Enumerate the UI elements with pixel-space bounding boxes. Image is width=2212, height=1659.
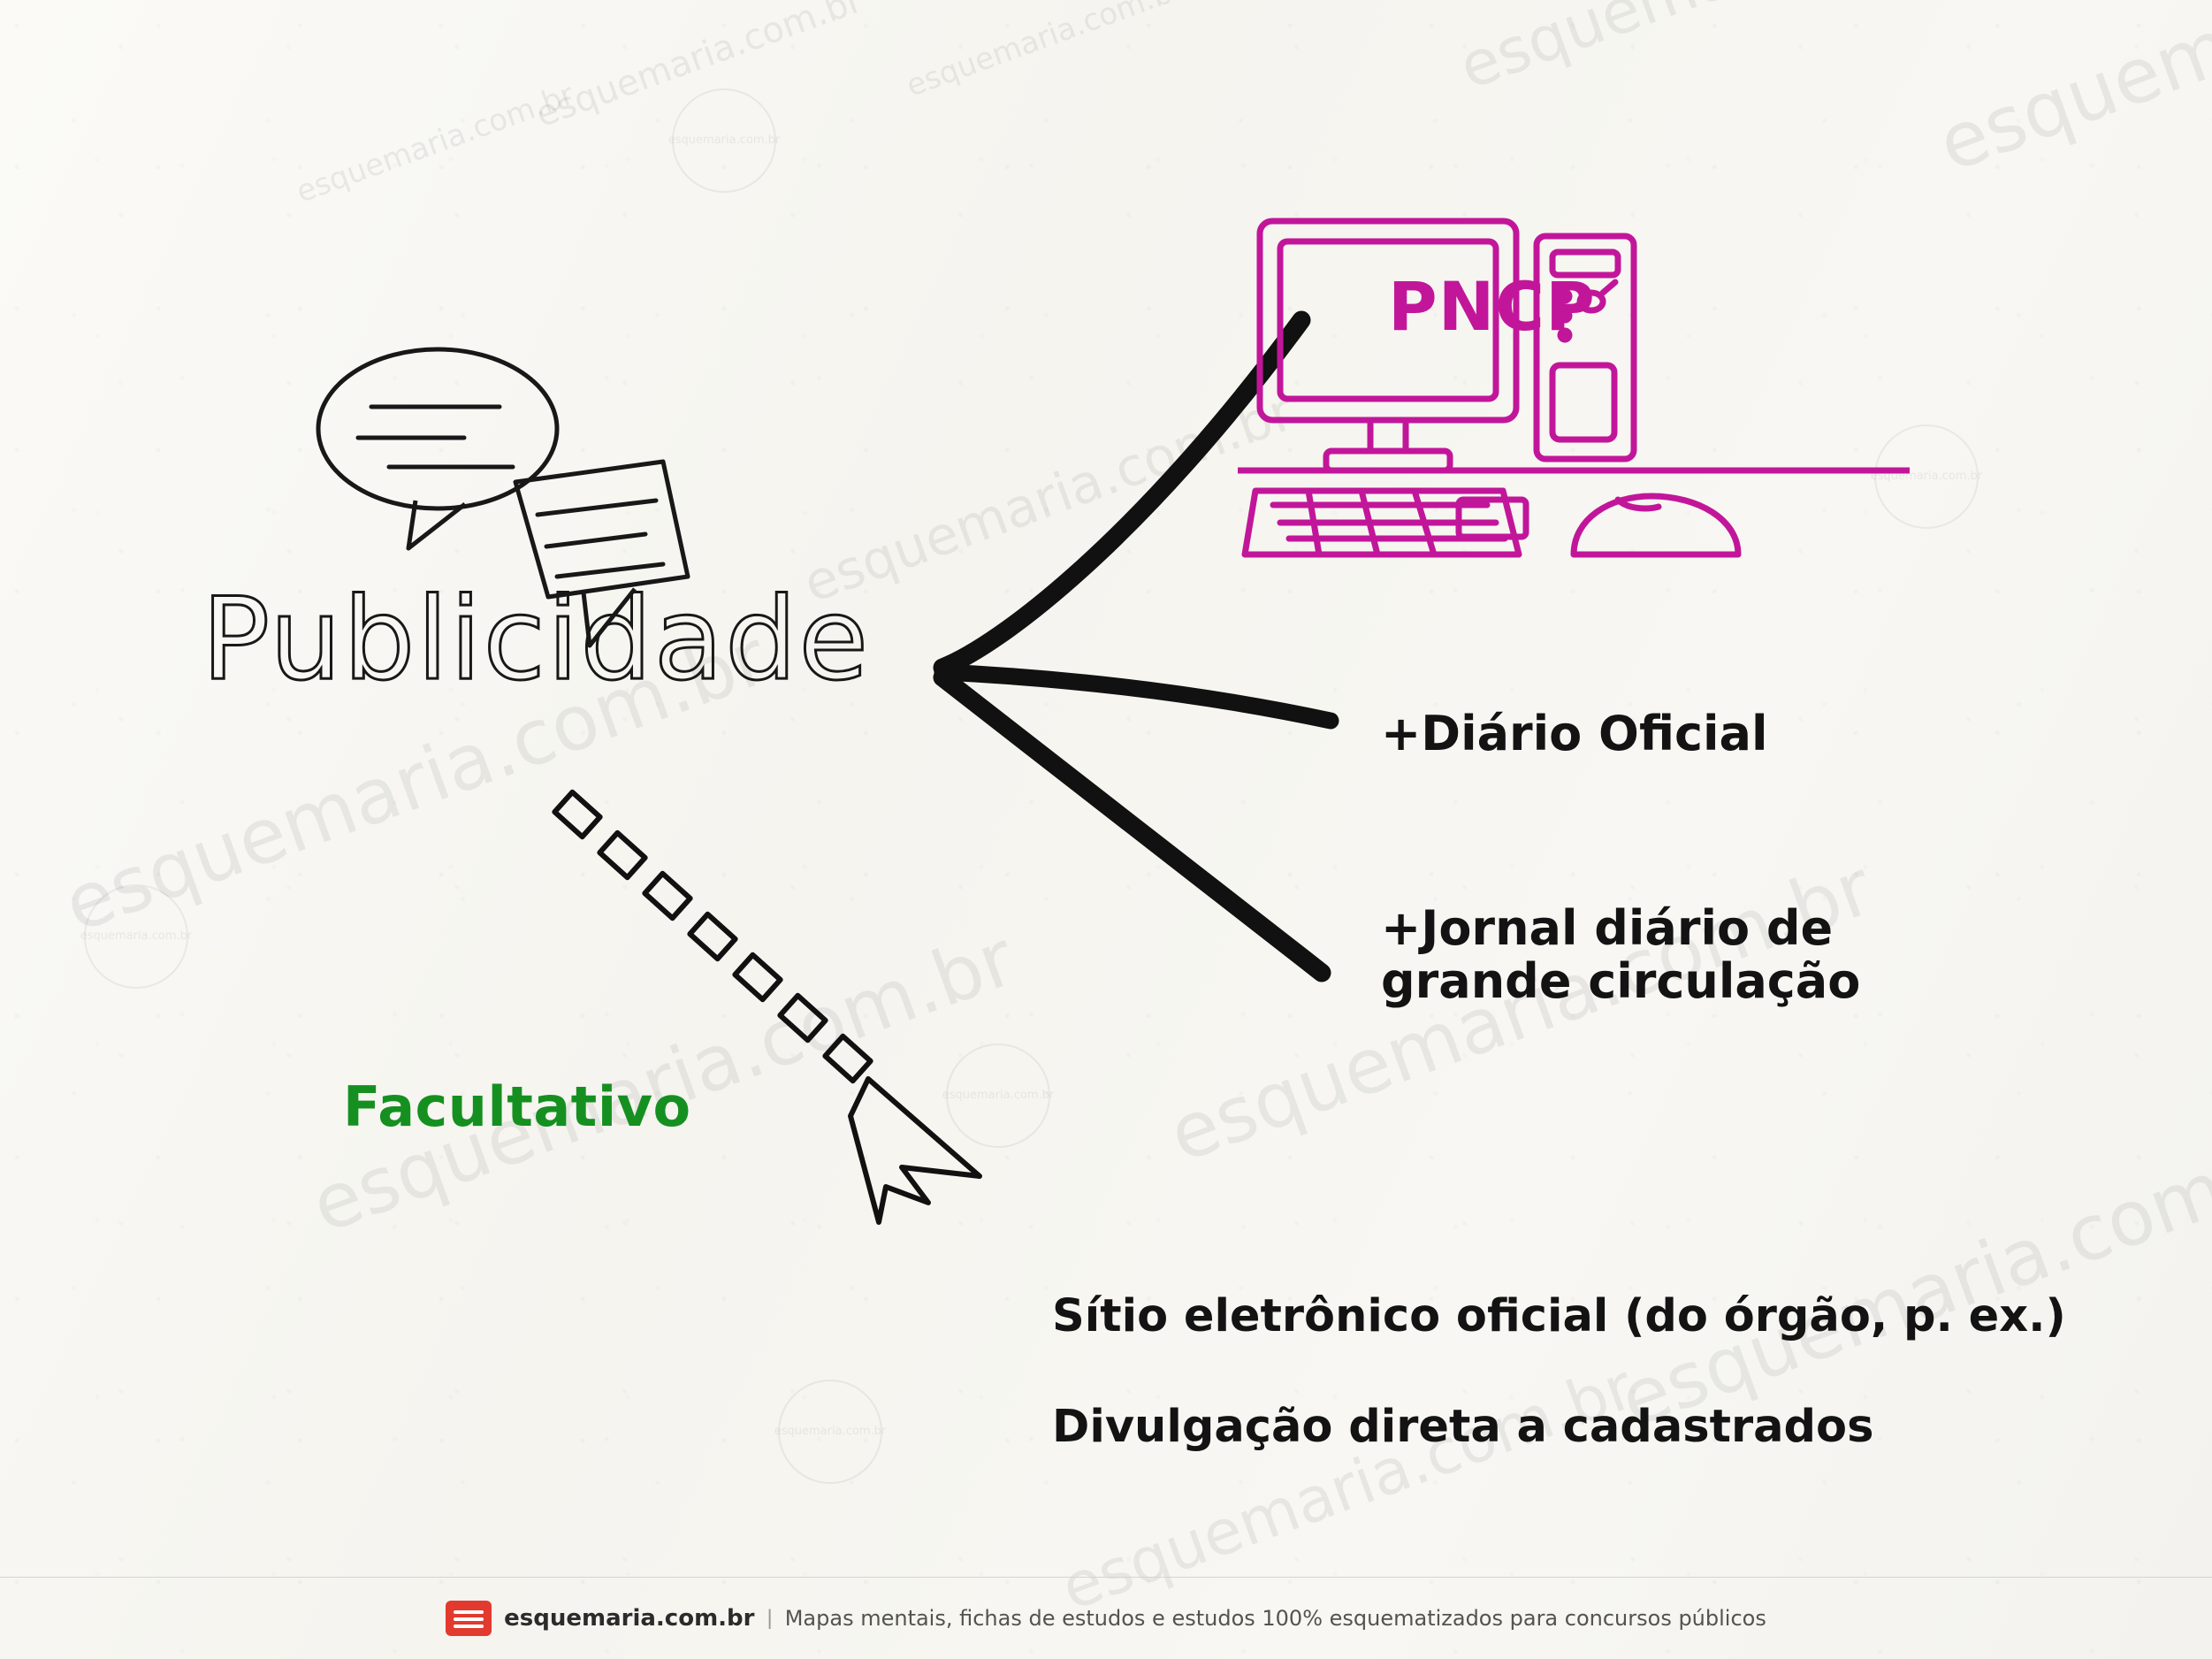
footer-separator: | [767, 1606, 772, 1631]
facultativo-label: Facultativo [343, 1074, 691, 1139]
central-node-label: Publicidade [202, 584, 870, 697]
label-jornal-line2: grande circulação [1381, 955, 1876, 1008]
diagram-canvas: Publicidade [0, 0, 2212, 1659]
label-diario-oficial: +Diário Oficial [1381, 707, 1767, 761]
label-jornal-diario: +Jornal diário de grande circulação [1381, 902, 1876, 1009]
desktop-computer-icon [1238, 208, 1910, 579]
label-divulgacao-direta: Divulgação direta a cadastrados [1052, 1402, 1873, 1452]
dashed-arrow-icon [539, 787, 1087, 1265]
footer-brand: esquemaria.com.br [504, 1605, 754, 1632]
label-jornal-line1: +Jornal diário de [1381, 902, 1876, 955]
esquemaria-logo-icon [446, 1601, 492, 1636]
pncp-label: PNCP [1388, 267, 1596, 346]
label-sitio-eletronico: Sítio eletrônico oficial (do órgão, p. e… [1052, 1291, 2066, 1342]
footer-tagline: Mapas mentais, fichas de estudos e estud… [785, 1606, 1766, 1631]
footer: esquemaria.com.br | Mapas mentais, ficha… [0, 1577, 2212, 1659]
